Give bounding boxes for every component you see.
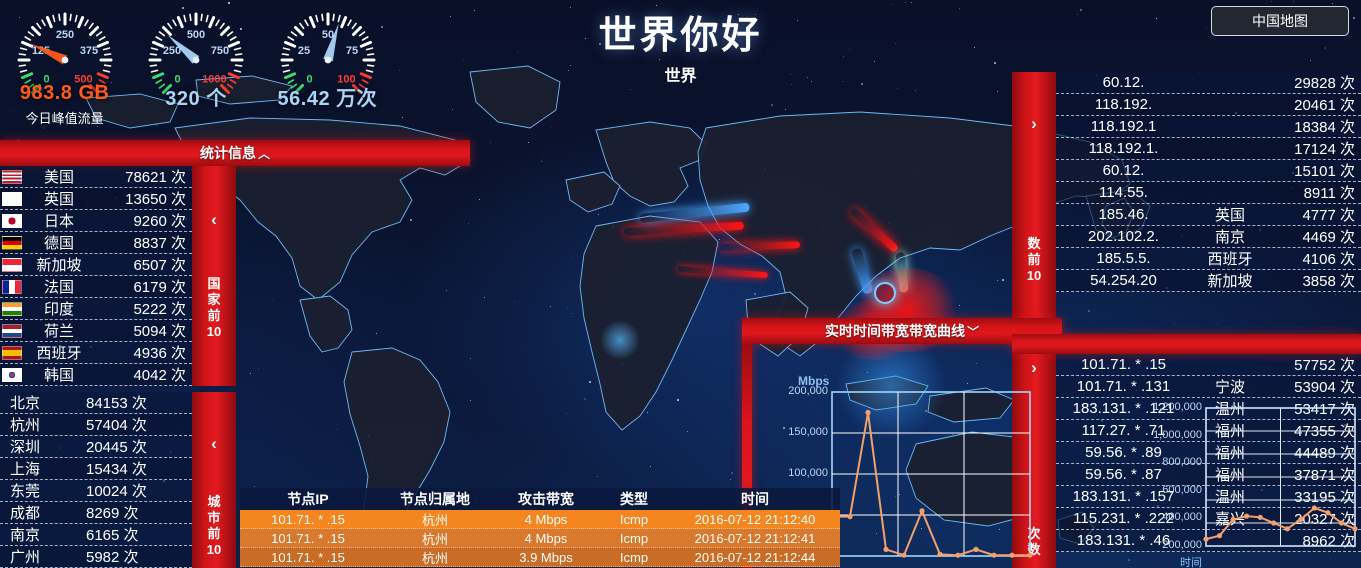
attack-time: 2016-07-12 21:12:40 <box>670 512 840 527</box>
tab-label-char: 10 <box>192 324 236 340</box>
list-item[interactable]: 杭州57404 次 <box>0 414 192 436</box>
ip-location: 英国 <box>1191 204 1269 225</box>
city-name: 深圳 <box>0 436 86 457</box>
attack-count-chart: 200,000400,000600,000800,0001,000,0001,2… <box>1136 398 1361 568</box>
tab-label-char: 国 <box>192 276 236 292</box>
attack-time: 2016-07-12 21:12:41 <box>670 531 840 546</box>
attackip-banner-stem <box>1012 334 1361 354</box>
ip-address: 60.12. <box>1056 74 1191 91</box>
chevron-up-icon: ︿ <box>258 147 270 161</box>
chevron-down-icon: ﹀ <box>967 325 979 339</box>
flag-icon-uk <box>2 192 22 206</box>
page-title: 世界你好 <box>0 4 1361 59</box>
city-count: 84153 次 <box>86 392 192 413</box>
flag-icon-es <box>2 346 22 360</box>
list-item[interactable]: 114.55.8911 次 <box>1056 182 1361 204</box>
country-name: 韩国 <box>22 364 96 385</box>
ip-location: 南京 <box>1191 226 1269 247</box>
flag-icon-in <box>2 302 22 316</box>
attack-ip-top10-panel: › 数前10 60.12.29828 次118.192.20461 次118.1… <box>1012 72 1361 334</box>
ip-count: 20461 次 <box>1269 94 1361 115</box>
ip-count: 29828 次 <box>1269 72 1361 93</box>
city-count: 57404 次 <box>86 414 192 435</box>
flag-icon-sg <box>2 258 22 272</box>
country-count: 6507 次 <box>96 254 192 275</box>
attack-type: Icmp <box>598 550 670 565</box>
ip-count: 17124 次 <box>1269 138 1361 159</box>
node-ip: 101.71. * .15 <box>240 531 376 546</box>
country-name: 印度 <box>22 298 96 319</box>
node-ip: 101.71. * .15 <box>240 512 376 527</box>
country-panel-tab[interactable]: ‹ 国家前10 <box>192 166 236 386</box>
ip-count: 4469 次 <box>1269 226 1361 247</box>
list-item[interactable]: 韩国4042 次 <box>0 364 192 386</box>
city-panel-tab-label: 城市前10 <box>192 494 236 558</box>
stats-banner-label: 统计信息︿ <box>0 143 470 163</box>
flag-icon-kr <box>2 368 22 382</box>
ip-address: 101.71. * .131 <box>1056 378 1191 395</box>
country-name: 英国 <box>22 188 96 209</box>
country-name: 日本 <box>22 210 96 231</box>
city-row-list: 北京84153 次杭州57404 次深圳20445 次上海15434 次东莞10… <box>0 392 192 568</box>
country-name: 法国 <box>22 276 96 297</box>
city-name: 上海 <box>0 458 86 479</box>
list-item[interactable]: 54.254.20新加坡3858 次 <box>1056 270 1361 292</box>
ip-location: 西班牙 <box>1191 248 1269 269</box>
list-item[interactable]: 101.71. * .131宁波53904 次 <box>1056 376 1361 398</box>
tab-label-char: 前 <box>192 308 236 324</box>
country-name: 荷兰 <box>22 320 96 341</box>
tab-label-char: 数 <box>1012 236 1056 252</box>
ip-address: 54.254.20 <box>1056 272 1191 289</box>
attack-time: 2016-07-12 21:12:44 <box>670 550 840 565</box>
attack-log-table-header: 节点IP节点归属地攻击带宽类型时间 <box>240 488 840 510</box>
ip-address: 118.192.1. <box>1056 140 1191 157</box>
ip-address: 60.12. <box>1056 162 1191 179</box>
attack-ip-panel-tab-label: 数前10 <box>1012 236 1056 284</box>
list-item[interactable]: 185.5.5.西班牙4106 次 <box>1056 248 1361 270</box>
city-top10-panel: 北京84153 次杭州57404 次深圳20445 次上海15434 次东莞10… <box>0 392 236 568</box>
city-name: 杭州 <box>0 414 86 435</box>
y-tick-label: 100,000 <box>788 467 828 479</box>
city-count: 20445 次 <box>86 436 192 457</box>
country-count: 5222 次 <box>96 298 192 319</box>
list-item[interactable]: 新加坡6507 次 <box>0 254 192 276</box>
node-location: 杭州 <box>376 529 494 548</box>
y-tick-label: 400,000 <box>1162 511 1202 523</box>
list-item[interactable]: 202.102.2.南京4469 次 <box>1056 226 1361 248</box>
attack-ip-row-list: 60.12.29828 次118.192.20461 次118.192.1183… <box>1056 72 1361 292</box>
tab-label-char: 10 <box>192 542 236 558</box>
ip-location: 宁波 <box>1191 376 1269 397</box>
ip-address: 118.192.1 <box>1056 118 1191 135</box>
collapse-left-icon[interactable]: ‹ <box>192 434 236 454</box>
china-map-button[interactable]: 中国地图 <box>1211 6 1349 36</box>
flag-icon-jp <box>2 214 22 228</box>
city-panel-tab[interactable]: ‹ 城市前10 <box>192 392 236 568</box>
column-header-node-location: 节点归属地 <box>376 489 494 509</box>
list-item[interactable]: 西班牙4936 次 <box>0 342 192 364</box>
tab-label-char: 前 <box>1012 252 1056 268</box>
list-item[interactable]: 60.12.15101 次 <box>1056 160 1361 182</box>
ip-count: 15101 次 <box>1269 160 1361 181</box>
y-tick-label: 150,000 <box>788 426 828 438</box>
collapse-right-icon[interactable]: › <box>1012 358 1056 378</box>
ip-address: 185.5.5. <box>1056 250 1191 267</box>
list-item[interactable]: 法国6179 次 <box>0 276 192 298</box>
y-tick-label: 1,200,000 <box>1153 401 1202 413</box>
node-location: 杭州 <box>376 548 494 567</box>
city-name: 东莞 <box>0 480 86 501</box>
y-tick-label: 600,000 <box>1162 484 1202 496</box>
country-count: 5094 次 <box>96 320 192 341</box>
y-tick-label: 1,000,000 <box>1153 429 1202 441</box>
city-count: 15434 次 <box>86 458 192 479</box>
table-row[interactable]: 101.71. * .15杭州4 MbpsIcmp2016-07-12 21:1… <box>240 510 840 529</box>
country-row-list: 美国78621 次英国13650 次日本9260 次德国8837 次新加坡650… <box>0 166 192 386</box>
ip-count: 4777 次 <box>1269 204 1361 225</box>
city-count: 10024 次 <box>86 480 192 501</box>
country-count: 9260 次 <box>96 210 192 231</box>
collapse-right-icon[interactable]: › <box>1012 114 1056 134</box>
country-name: 美国 <box>22 166 96 187</box>
gauge-value: 56.42 万次 <box>269 82 386 111</box>
collapse-left-icon[interactable]: ‹ <box>192 210 236 230</box>
country-count: 4936 次 <box>96 342 192 363</box>
city-count: 6165 次 <box>86 524 192 545</box>
country-count: 8837 次 <box>96 232 192 253</box>
attack-target-ring <box>874 282 896 304</box>
list-item[interactable]: 南京6165 次 <box>0 524 192 546</box>
list-item[interactable]: 东莞10024 次 <box>0 480 192 502</box>
ip-location: 新加坡 <box>1191 270 1269 291</box>
ip-count: 4106 次 <box>1269 248 1361 269</box>
attack-log-table: 节点IP节点归属地攻击带宽类型时间 101.71. * .15杭州4 MbpsI… <box>240 488 840 568</box>
list-item[interactable]: 60.12.29828 次 <box>1056 72 1361 94</box>
tab-label-char: 家 <box>192 292 236 308</box>
gauge-caption: 今日峰值流量 <box>6 108 123 127</box>
table-row[interactable]: 101.71. * .15杭州4 MbpsIcmp2016-07-12 21:1… <box>240 529 840 548</box>
column-header-attack-time: 时间 <box>670 489 840 509</box>
country-count: 78621 次 <box>96 166 192 187</box>
country-name: 新加坡 <box>22 254 96 275</box>
ip-count: 3858 次 <box>1269 270 1361 291</box>
list-item[interactable]: 美国78621 次 <box>0 166 192 188</box>
list-item[interactable]: 118.192.1.17124 次 <box>1056 138 1361 160</box>
city-count: 8269 次 <box>86 502 192 523</box>
flag-icon-nl <box>2 324 22 338</box>
flag-icon-fr <box>2 280 22 294</box>
ip-address: 101.71. * .15 <box>1056 356 1191 373</box>
country-top10-panel: 美国78621 次英国13650 次日本9260 次德国8837 次新加坡650… <box>0 166 236 386</box>
gauge-value: 320 个 <box>137 82 254 111</box>
city-name: 成都 <box>0 502 86 523</box>
ip-count: 53904 次 <box>1269 376 1361 397</box>
tab-label-char: 前 <box>192 526 236 542</box>
attack-type: Icmp <box>598 531 670 546</box>
y-tick-label: 800,000 <box>1162 456 1202 468</box>
stats-banner[interactable]: 统计信息︿ <box>0 140 470 166</box>
node-location: 杭州 <box>376 510 494 529</box>
flag-icon-us <box>2 170 22 184</box>
flag-icon-de <box>2 236 22 250</box>
city-name: 北京 <box>0 392 86 413</box>
tab-label-char: 市 <box>192 510 236 526</box>
country-panel-tab-label: 国家前10 <box>192 276 236 340</box>
table-row[interactable]: 101.71. * .15杭州3.9 MbpsIcmp2016-07-12 21… <box>240 548 840 567</box>
ip-address: 185.46. <box>1056 206 1191 223</box>
country-name: 西班牙 <box>22 342 96 363</box>
ip-address: 114.55. <box>1056 184 1191 201</box>
y-tick-label: 200,000 <box>1162 539 1202 551</box>
ip-count: 8911 次 <box>1269 182 1361 203</box>
list-item[interactable]: 185.46.英国4777 次 <box>1056 204 1361 226</box>
attack-bandwidth: 4 Mbps <box>494 512 598 527</box>
column-header-attack-type: 类型 <box>598 489 670 509</box>
node-ip: 101.71. * .15 <box>240 550 376 565</box>
country-count: 13650 次 <box>96 188 192 209</box>
tab-label-char: 城 <box>192 494 236 510</box>
list-item[interactable]: 德国8837 次 <box>0 232 192 254</box>
column-header-attack-bandwidth: 攻击带宽 <box>494 489 598 509</box>
attack-log-table-body: 101.71. * .15杭州4 MbpsIcmp2016-07-12 21:1… <box>240 510 840 567</box>
attack-ip-panel-tab[interactable]: › 数前10 <box>1012 72 1056 334</box>
ip-address: 118.192. <box>1056 96 1191 113</box>
list-item[interactable]: 广州5982 次 <box>0 546 192 568</box>
x-axis-label: 时间 <box>1180 554 1202 568</box>
tab-label-char: 10 <box>1012 268 1056 284</box>
attack-bandwidth: 3.9 Mbps <box>494 550 598 565</box>
city-name: 广州 <box>0 546 86 567</box>
list-item[interactable]: 荷兰5094 次 <box>0 320 192 342</box>
y-axis-unit: Mbps <box>798 374 829 388</box>
list-item[interactable]: 印度5222 次 <box>0 298 192 320</box>
list-item[interactable]: 深圳20445 次 <box>0 436 192 458</box>
country-count: 4042 次 <box>96 364 192 385</box>
ip-count: 57752 次 <box>1269 354 1361 375</box>
attack-type: Icmp <box>598 512 670 527</box>
ip-count: 18384 次 <box>1269 116 1361 137</box>
list-item[interactable]: 118.192.20461 次 <box>1056 94 1361 116</box>
list-item[interactable]: 118.192.118384 次 <box>1056 116 1361 138</box>
attack-bandwidth: 4 Mbps <box>494 531 598 546</box>
city-count: 5982 次 <box>86 546 192 567</box>
list-item[interactable]: 日本9260 次 <box>0 210 192 232</box>
country-count: 6179 次 <box>96 276 192 297</box>
city-name: 南京 <box>0 524 86 545</box>
list-item[interactable]: 英国13650 次 <box>0 188 192 210</box>
list-item[interactable]: 上海15434 次 <box>0 458 192 480</box>
column-header-node-ip: 节点IP <box>240 489 376 509</box>
list-item[interactable]: 101.71. * .1557752 次 <box>1056 354 1361 376</box>
glow <box>600 320 640 360</box>
list-item[interactable]: 成都8269 次 <box>0 502 192 524</box>
ip-address: 202.102.2. <box>1056 228 1191 245</box>
country-name: 德国 <box>22 232 96 253</box>
list-item[interactable]: 北京84153 次 <box>0 392 192 414</box>
